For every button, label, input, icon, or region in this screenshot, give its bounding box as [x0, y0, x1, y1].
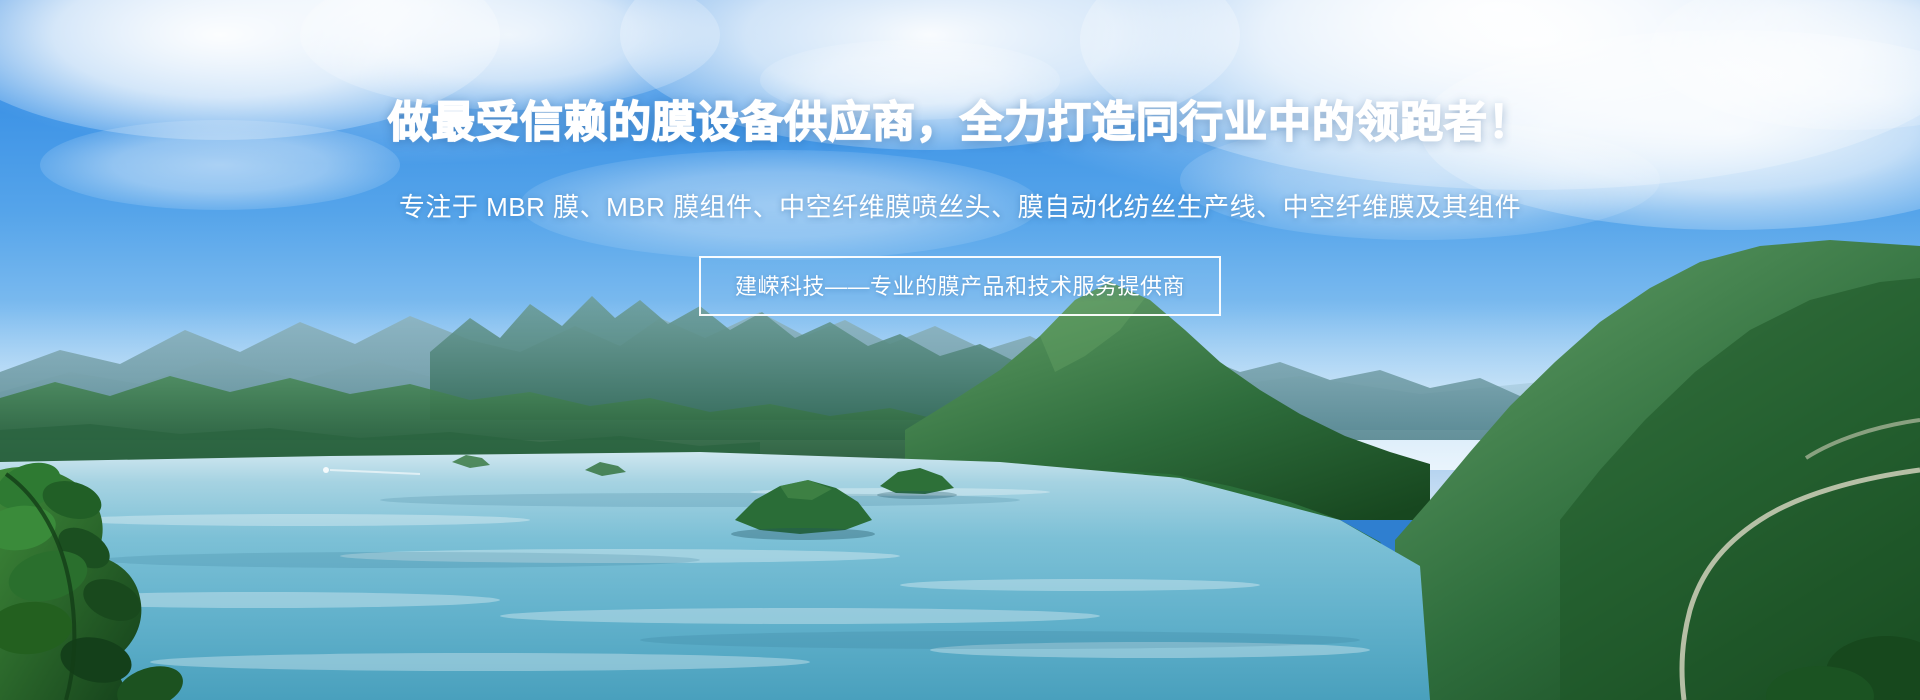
landscape-scene — [0, 0, 1920, 700]
hero-banner: 做最受信赖的膜设备供应商，全力打造同行业中的领跑者！ 专注于 MBR 膜、MBR… — [0, 0, 1920, 700]
island-reflection — [731, 528, 875, 540]
boat-icon — [323, 467, 329, 473]
islet-reflection — [877, 491, 957, 499]
tagline-box[interactable]: 建嵘科技——专业的膜产品和技术服务提供商 — [699, 256, 1221, 316]
